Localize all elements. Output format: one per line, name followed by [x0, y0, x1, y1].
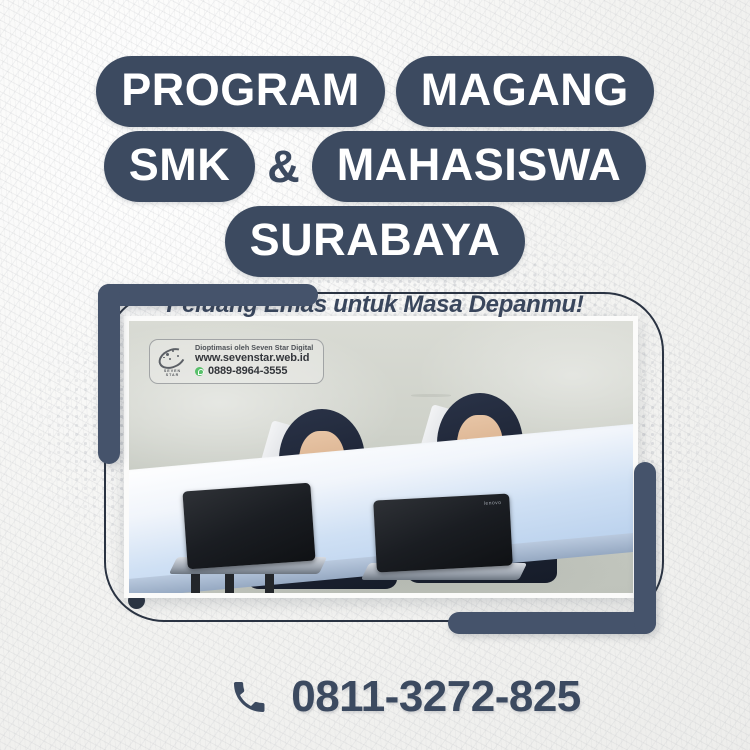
headline-pill-surabaya: SURABAYA [225, 206, 526, 277]
headline-pill-smk: SMK [104, 131, 256, 202]
headline-ampersand: & [266, 144, 301, 189]
footer-phone-number: 0811-3272-825 [291, 672, 581, 722]
footer-contact-bar: 0811-3272-825 [0, 672, 750, 722]
corner-bracket-top-left [98, 284, 318, 464]
phone-icon [229, 677, 269, 717]
headline-pill-magang: MAGANG [396, 56, 654, 127]
headline-pill-mahasiswa: MAHASISWA [312, 131, 647, 202]
laptop-left-lid [182, 483, 315, 570]
headline-block: PROGRAM MAGANG SMK & MAHASISWA SURABAYA … [0, 56, 750, 319]
headline-line-2: SMK & MAHASISWA [0, 131, 750, 202]
headline-line-1: PROGRAM MAGANG [0, 56, 750, 127]
poster-canvas: PROGRAM MAGANG SMK & MAHASISWA SURABAYA … [0, 0, 750, 750]
corner-bracket-bottom-right [448, 462, 656, 634]
headline-line-3: SURABAYA [0, 206, 750, 277]
headline-pill-program: PROGRAM [96, 56, 385, 127]
